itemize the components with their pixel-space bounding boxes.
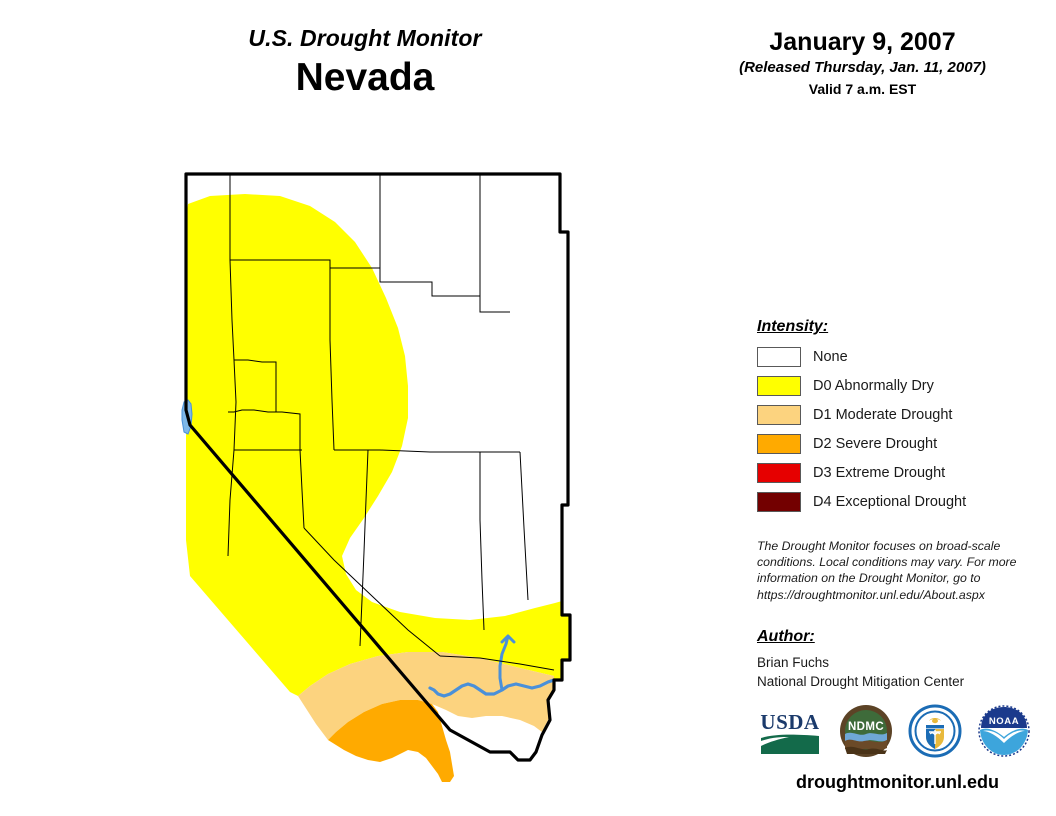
title-block: U.S. Drought Monitor Nevada	[120, 26, 610, 101]
nevada-drought-map	[150, 160, 620, 790]
release-date: (Released Thursday, Jan. 11, 2007)	[690, 59, 1035, 77]
page-title: U.S. Drought Monitor	[120, 26, 610, 51]
usdc-seal-logo	[907, 704, 963, 758]
website-url[interactable]: droughtmonitor.unl.edu	[750, 772, 1045, 793]
legend-swatch-d3	[757, 463, 801, 483]
valid-time: Valid 7 a.m. EST	[690, 81, 1035, 98]
legend-label-d0: D0 Abnormally Dry	[813, 378, 934, 394]
legend-item-d0: D0 Abnormally Dry	[757, 371, 1027, 400]
legend-title: Intensity:	[757, 318, 1027, 336]
svg-text:NOAA: NOAA	[989, 716, 1019, 727]
svg-text:USDA: USDA	[760, 710, 820, 734]
legend-item-d1: D1 Moderate Drought	[757, 400, 1027, 429]
legend-swatch-d1	[757, 405, 801, 425]
author-organization: National Drought Mitigation Center	[757, 672, 1027, 691]
author-name: Brian Fuchs	[757, 653, 1027, 672]
legend-label-d2: D2 Severe Drought	[813, 436, 937, 452]
legend-item-d3: D3 Extreme Drought	[757, 458, 1027, 487]
legend-swatch-d4	[757, 492, 801, 512]
map-date: January 9, 2007	[690, 28, 1035, 56]
author-block: Author: Brian Fuchs National Drought Mit…	[757, 628, 1027, 691]
noaa-logo: NOAA	[975, 704, 1033, 758]
legend-label-d3: D3 Extreme Drought	[813, 465, 945, 481]
svg-text:NDMC: NDMC	[848, 721, 884, 733]
legend-swatch-none	[757, 347, 801, 367]
legend-item-d4: D4 Exceptional Drought	[757, 487, 1027, 516]
legend-item-none: None	[757, 342, 1027, 371]
legend-swatch-d0	[757, 376, 801, 396]
legend-label-d1: D1 Moderate Drought	[813, 407, 952, 423]
date-block: January 9, 2007 (Released Thursday, Jan.…	[690, 28, 1035, 98]
ndmc-logo: NDMC	[837, 704, 895, 758]
legend-item-d2: D2 Severe Drought	[757, 429, 1027, 458]
disclaimer-text: The Drought Monitor focuses on broad-sca…	[757, 538, 1025, 603]
legend-label-d4: D4 Exceptional Drought	[813, 494, 966, 510]
drought-monitor-page: U.S. Drought Monitor Nevada January 9, 2…	[0, 0, 1056, 816]
state-name: Nevada	[120, 55, 610, 101]
usda-logo: USDA	[759, 704, 821, 756]
author-title: Author:	[757, 628, 1027, 646]
agency-logos: USDA NDMC	[757, 704, 1037, 760]
legend-swatch-d2	[757, 434, 801, 454]
legend-label-none: None	[813, 349, 848, 365]
legend: Intensity: None D0 Abnormally Dry D1 Mod…	[757, 318, 1027, 516]
